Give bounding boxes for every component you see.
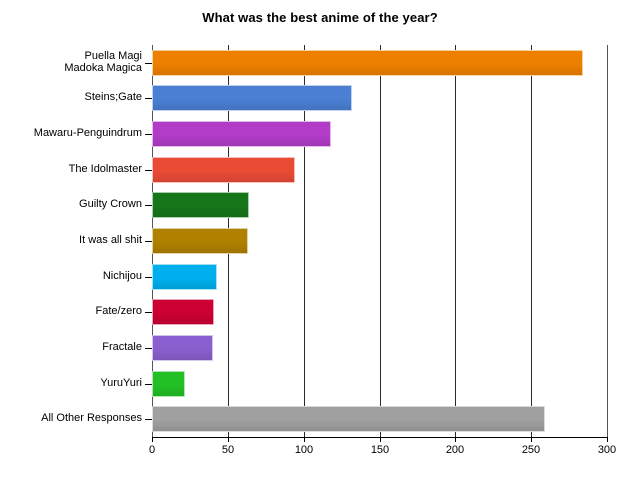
bar <box>152 299 214 325</box>
x-tick-mark <box>607 437 608 442</box>
y-axis-category-label: Fate/zero <box>0 305 142 317</box>
gridline <box>531 45 532 437</box>
y-axis-category-label: The Idolmaster <box>0 163 142 175</box>
bar <box>152 192 249 218</box>
y-tick-mark <box>145 312 152 313</box>
y-axis-category-label: It was all shit <box>0 234 142 246</box>
chart-title: What was the best anime of the year? <box>0 10 640 25</box>
x-tick-label: 250 <box>511 444 551 456</box>
y-tick-mark <box>145 98 152 99</box>
bar <box>152 264 217 290</box>
bar <box>152 406 545 432</box>
bar <box>152 335 213 361</box>
x-tick-mark <box>228 437 229 442</box>
y-tick-mark <box>145 205 152 206</box>
gridline <box>607 45 608 437</box>
gridline <box>380 45 381 437</box>
y-tick-mark <box>145 170 152 171</box>
bar <box>152 157 295 183</box>
y-axis-category-label: Guilty Crown <box>0 198 142 210</box>
x-tick-mark <box>304 437 305 442</box>
y-tick-mark <box>145 134 152 135</box>
bar <box>152 371 185 397</box>
x-tick-mark <box>531 437 532 442</box>
y-tick-mark <box>145 419 152 420</box>
y-tick-mark <box>145 277 152 278</box>
x-tick-mark <box>380 437 381 442</box>
y-axis-category-label: All Other Responses <box>0 412 142 424</box>
bar <box>152 85 352 111</box>
y-axis-category-label: Mawaru-Penguindrum <box>0 127 142 139</box>
x-tick-label: 50 <box>208 444 248 456</box>
gridline <box>455 45 456 437</box>
y-tick-mark <box>145 384 152 385</box>
y-axis-category-label: YuruYuri <box>0 377 142 389</box>
bar <box>152 228 248 254</box>
y-tick-mark <box>145 348 152 349</box>
bar <box>152 50 583 76</box>
y-axis-category-label: Nichijou <box>0 270 142 282</box>
y-axis-category-label: Fractale <box>0 341 142 353</box>
y-axis-category-label: Puella Magi Madoka Magica <box>0 50 142 74</box>
bar-chart-figure: What was the best anime of the year? 050… <box>0 0 640 480</box>
x-tick-label: 150 <box>360 444 400 456</box>
y-tick-mark <box>145 63 152 64</box>
x-tick-mark <box>152 437 153 442</box>
x-tick-label: 300 <box>587 444 627 456</box>
x-tick-mark <box>455 437 456 442</box>
x-tick-label: 100 <box>284 444 324 456</box>
x-tick-label: 200 <box>435 444 475 456</box>
y-tick-mark <box>145 241 152 242</box>
x-tick-label: 0 <box>132 444 172 456</box>
bar <box>152 121 331 147</box>
y-axis-category-label: Steins;Gate <box>0 91 142 103</box>
